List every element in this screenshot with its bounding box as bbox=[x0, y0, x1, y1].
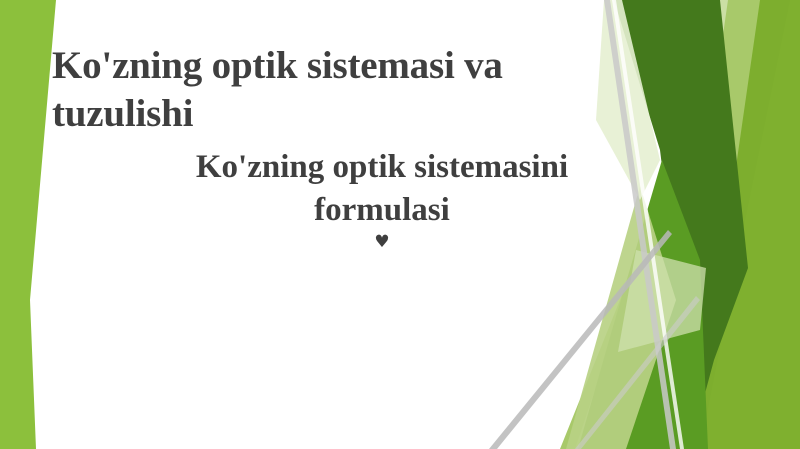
heart-bullet-icon: ♥ bbox=[92, 234, 672, 251]
slide-title: Ko'zning optik sistemasi va tuzulishi bbox=[52, 42, 630, 137]
subtitle-line-2: formulasi bbox=[92, 189, 672, 232]
title-line-2: tuzulishi bbox=[52, 90, 630, 138]
presentation-slide: Ko'zning optik sistemasi va tuzulishi Ko… bbox=[0, 0, 800, 449]
slide-content: Ko'zning optik sistemasi va tuzulishi Ko… bbox=[0, 0, 800, 449]
subtitle-line-1: Ko'zning optik sistemasini bbox=[92, 146, 672, 189]
title-line-1: Ko'zning optik sistemasi va bbox=[52, 42, 630, 90]
slide-subtitle: Ko'zning optik sistemasini formulasi bbox=[92, 146, 672, 232]
